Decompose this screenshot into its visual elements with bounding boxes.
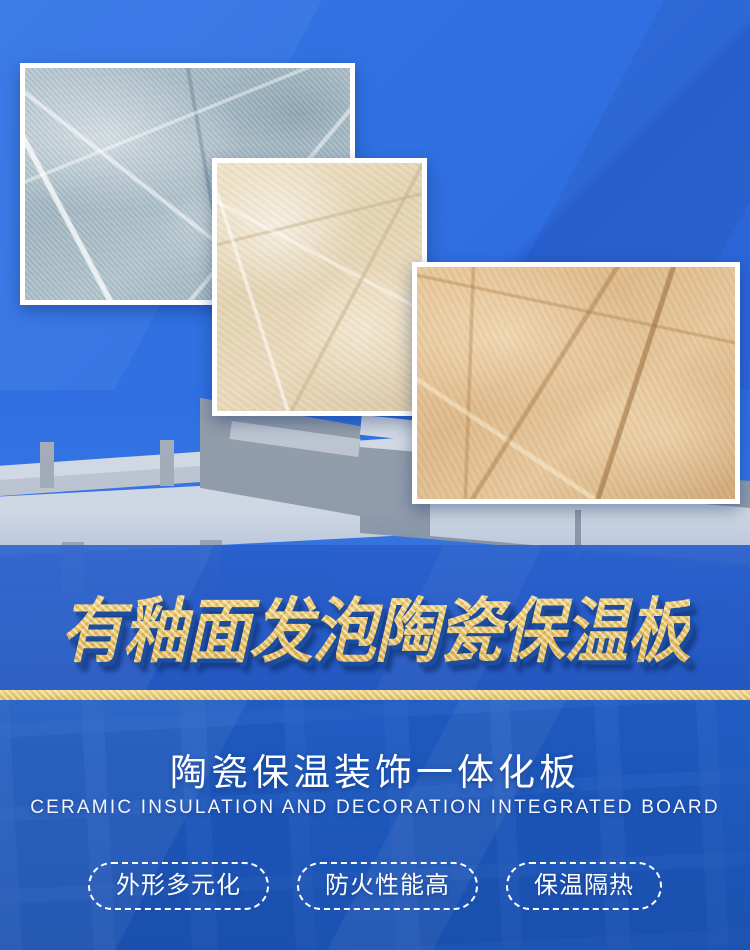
photo-blue-tint: [0, 700, 750, 950]
feature-pill-thermal-insulation[interactable]: 保温隔热: [506, 862, 662, 910]
feature-pill-group: 外形多元化 防火性能高 保温隔热: [0, 862, 750, 910]
feature-pill-shape-variety[interactable]: 外形多元化: [88, 862, 269, 910]
subtitle-english: CERAMIC INSULATION AND DECORATION INTEGR…: [0, 797, 750, 819]
subtitle-chinese: 陶瓷保温装饰一体化板: [0, 742, 750, 796]
tile-veins: [217, 163, 422, 411]
building-photo-bottom: [0, 700, 750, 950]
tile-veins: [417, 267, 735, 499]
feature-pill-fire-resistance[interactable]: 防火性能高: [297, 862, 478, 910]
gold-divider: [0, 690, 750, 700]
product-banner: 有釉面发泡陶瓷保温板: [0, 0, 750, 950]
tan-marble-tile[interactable]: [412, 262, 740, 504]
main-title-area: 有釉面发泡陶瓷保温板: [0, 578, 750, 674]
cream-travertine-tile[interactable]: [212, 158, 427, 416]
page-title: 有釉面发泡陶瓷保温板: [60, 575, 690, 676]
